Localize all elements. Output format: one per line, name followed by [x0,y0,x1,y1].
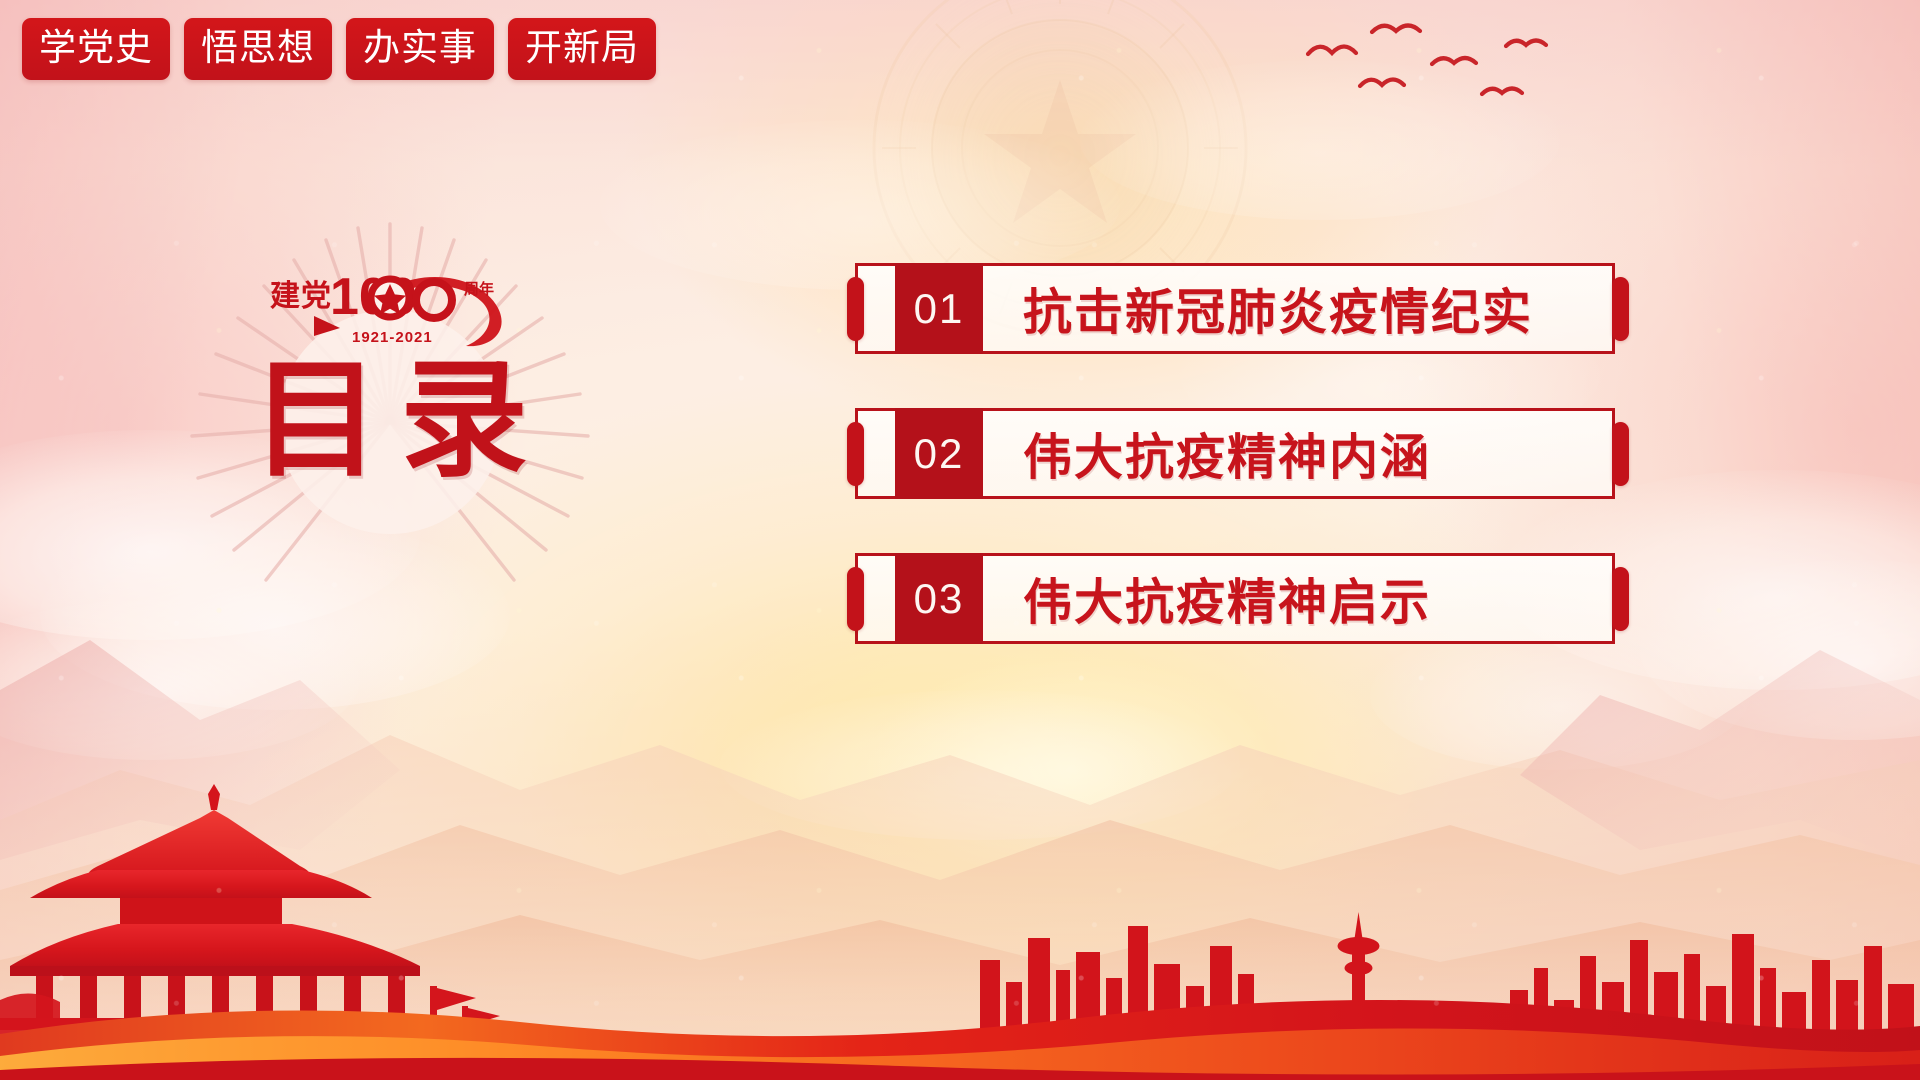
tagbar: 学党史 悟思想 办实事 开新局 [22,18,656,80]
toc-item-03[interactable]: 03 伟大抗疫精神启示 [835,553,1635,644]
toc-item-number: 01 [895,263,983,354]
table-of-contents: 01 抗击新冠肺炎疫情纪实 02 伟大抗疫精神内涵 03 伟大抗疫精神启示 [835,263,1635,644]
toc-item-left-bar [847,567,864,631]
toc-item-left-bar [847,422,864,486]
anniversary-suffix: 周年 [464,280,494,298]
toc-item-number: 02 [895,408,983,499]
toc-item-title[interactable]: 抗击新冠肺炎疫情纪实 [1023,263,1533,354]
flying-birds-icon [1300,20,1560,120]
toc-item-right-bar [1612,567,1629,631]
toc-item-left-bar [847,277,864,341]
red-ribbon-wave [0,960,1920,1080]
toc-item-right-bar [1612,422,1629,486]
toc-item-right-bar [1612,277,1629,341]
toc-item-02[interactable]: 02 伟大抗疫精神内涵 [835,408,1635,499]
toc-item-title[interactable]: 伟大抗疫精神启示 [1023,553,1431,644]
page-title: 目录 [150,354,630,487]
anniversary-logo: 建党 100 周年 1921-2021 [268,266,518,356]
toc-item-01[interactable]: 01 抗击新冠肺炎疫情纪实 [835,263,1635,354]
toc-item-number: 03 [895,553,983,644]
toc-item-title[interactable]: 伟大抗疫精神内涵 [1023,408,1431,499]
slide-canvas: 学党史 悟思想 办实事 开新局 [0,0,1920,1080]
tag-chip-2[interactable]: 悟思想 [184,18,332,80]
tag-chip-4[interactable]: 开新局 [508,18,656,80]
tag-chip-1[interactable]: 学党史 [22,18,170,80]
catalog-block: 建党 100 周年 1921-2021 目录 [150,230,630,630]
anniversary-years: 1921-2021 [352,329,433,346]
anniversary-prefix: 建党 [270,280,332,313]
tag-chip-3[interactable]: 办实事 [346,18,494,80]
